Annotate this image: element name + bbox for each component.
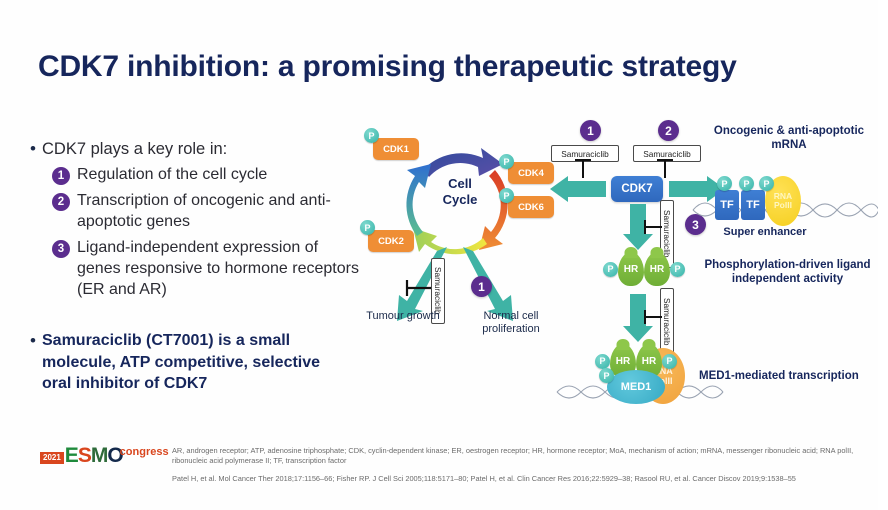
- oncogenic-mrna-label: Oncogenic & anti-apoptotic mRNA: [699, 124, 878, 152]
- cdk7-box: CDK7: [611, 176, 663, 202]
- numbered-list: 1 Regulation of the cell cycle 2 Transcr…: [52, 164, 360, 300]
- marker-badge-1: 1: [471, 276, 492, 297]
- phospho-icon: P: [364, 128, 379, 143]
- numbered-item-2: 2 Transcription of oncogenic and anti-ap…: [52, 190, 360, 232]
- phospho-icon: P: [662, 354, 677, 369]
- phospho-icon: P: [759, 176, 774, 191]
- hr-lobe-2: HR: [644, 252, 670, 286]
- med1-oval: MED1: [607, 370, 665, 404]
- phospho-icon: P: [603, 262, 618, 277]
- page-title: CDK7 inhibition: a promising therapeutic…: [38, 50, 798, 84]
- marker-badge-left: 1: [580, 120, 601, 141]
- highlight-bullet-text: Samuraciclib (CT7001) is a small molecul…: [42, 330, 350, 395]
- logo-letter-s: S: [78, 446, 91, 466]
- lead-bullet-text: CDK7 plays a key role in:: [42, 138, 227, 160]
- marker-badge-right: 2: [658, 120, 679, 141]
- cell-cycle-center-label: Cell Cycle: [430, 176, 490, 208]
- cdk1-box: CDK1: [373, 138, 419, 160]
- phospho-icon: P: [717, 176, 732, 191]
- tf-box-2: TF: [741, 190, 765, 220]
- phospho-icon: P: [499, 154, 514, 169]
- numbered-item-1-text: Regulation of the cell cycle: [77, 164, 267, 185]
- logo-letter-m: M: [91, 446, 108, 466]
- bullet-dot-icon: •: [30, 138, 42, 160]
- numbered-item-1: 1 Regulation of the cell cycle: [52, 164, 360, 185]
- phospho-icon: P: [499, 188, 514, 203]
- tf-box-1: TF: [715, 190, 739, 220]
- logo-year: 2021: [40, 452, 64, 464]
- esmo-congress-logo: 2021 ESMO congress: [40, 446, 169, 466]
- number-badge-2: 2: [52, 193, 70, 211]
- med1-transcription-label: MED1-mediated transcription: [699, 370, 878, 383]
- abbreviations-text: AR, androgen receptor; ATP, adenosine tr…: [172, 446, 862, 466]
- numbered-item-2-text: Transcription of oncogenic and anti-apop…: [77, 190, 360, 232]
- references-text: Patel H, et al. Mol Cancer Ther 2018;17:…: [172, 474, 862, 484]
- inhibition-bar-icon: [643, 218, 663, 236]
- ligand-independent-label: Phosphorylation-driven ligand independen…: [695, 258, 878, 286]
- pathway-diagram: Cell Cycle CDK1 P CDK2 P CDK4 P CDK6 P S…: [355, 118, 875, 418]
- phospho-icon: P: [739, 176, 754, 191]
- hr-complex-middle: P HR HR P: [603, 252, 685, 286]
- phospho-icon: P: [599, 368, 614, 383]
- inhibition-bar-icon: [403, 278, 433, 298]
- normal-proliferation-label: Normal cell proliferation: [465, 310, 557, 336]
- bullet-column: • CDK7 plays a key role in: 1 Regulation…: [30, 138, 360, 305]
- logo-letter-e: E: [65, 446, 78, 466]
- tumour-growth-label: Tumour growth: [353, 310, 453, 323]
- hr-lobe-1: HR: [618, 252, 644, 286]
- lead-bullet: • CDK7 plays a key role in:: [30, 138, 360, 160]
- bullet-dot-icon: •: [30, 330, 42, 395]
- slide-canvas: CDK7 inhibition: a promising therapeutic…: [0, 0, 878, 510]
- inhibition-bar-icon: [643, 308, 663, 326]
- logo-congress-text: congress: [120, 446, 169, 458]
- highlight-bullet: • Samuraciclib (CT7001) is a small molec…: [30, 330, 350, 395]
- arrow-left-icon: [548, 176, 608, 202]
- logo-wordmark: ESMO: [65, 446, 123, 466]
- number-badge-3: 3: [52, 240, 70, 258]
- super-enhancer-label: Super enhancer: [705, 226, 825, 239]
- number-badge-1: 1: [52, 167, 70, 185]
- phospho-icon: P: [360, 220, 375, 235]
- numbered-item-3-text: Ligand-independent expression of genes r…: [77, 237, 360, 300]
- phospho-icon: P: [670, 262, 685, 277]
- phospho-icon: P: [595, 354, 610, 369]
- numbered-item-3: 3 Ligand-independent expression of genes…: [52, 237, 360, 300]
